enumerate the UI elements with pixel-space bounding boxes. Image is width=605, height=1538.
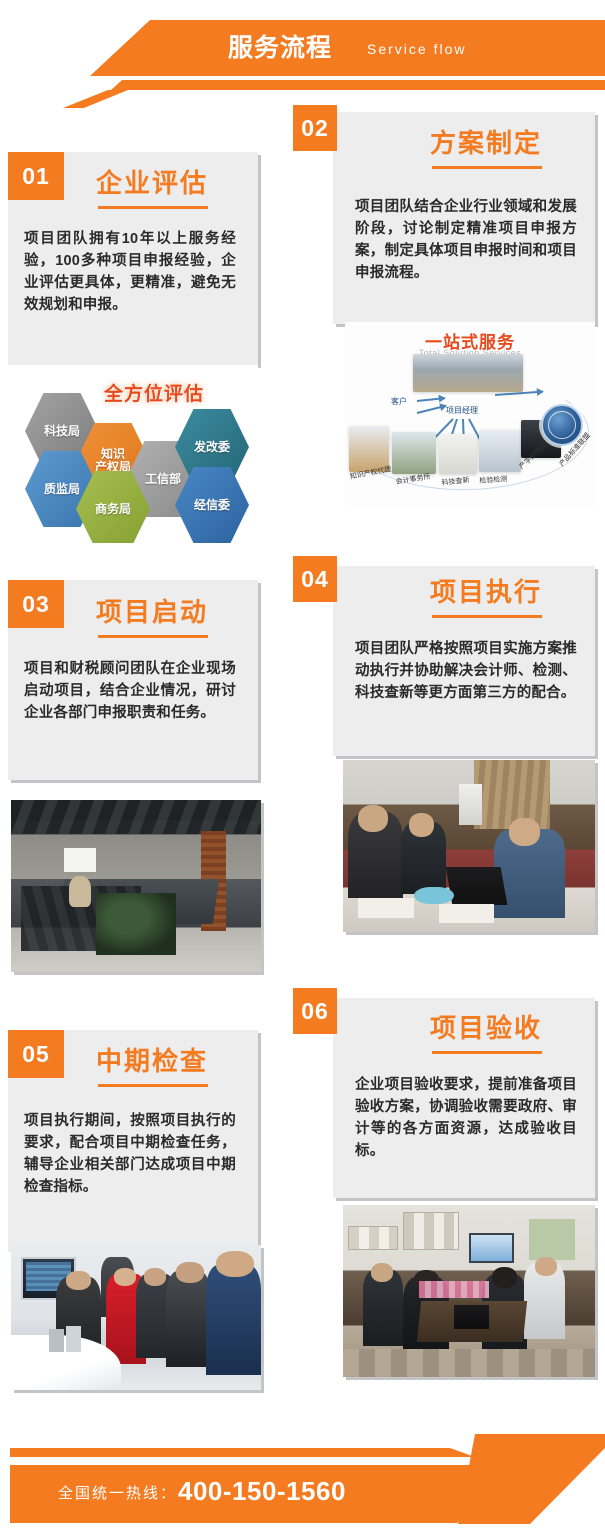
hotline-number: 400-150-1560 (178, 1471, 346, 1511)
one-stop-label-customer: 客户 (391, 396, 407, 407)
step-badge-02: 02 (293, 105, 337, 151)
one-stop-node-4 (479, 430, 521, 472)
header-orange-stripe (0, 80, 605, 90)
step-badge-03: 03 (8, 580, 64, 628)
page-footer: 全国统一热线： 400-150-1560 (0, 1408, 605, 1538)
one-stop-label-manager: 项目经理 (446, 405, 478, 416)
page-title: 服务流程 (228, 28, 332, 68)
photo-boardroom-review (343, 1205, 595, 1377)
step-title-01: 企业评估 (96, 163, 208, 200)
media-photo-showroom-visit (11, 1245, 261, 1390)
step-body-01: 项目团队拥有10年以上服务经验，100多种项目申报经验，企业评估更具体，更精准，… (24, 228, 236, 316)
step-body-03: 项目和财税顾问团队在企业现场启动项目，结合企业情况，研讨企业各部门申报职责和任务… (24, 658, 236, 724)
step-badge-01: 01 (8, 152, 64, 200)
photo-laptop-meeting (343, 760, 595, 932)
step-title-04: 项目执行 (430, 572, 542, 609)
service-flow-poster: 服务流程 Service flow 01 企业评估 项目团队拥有10年以上服务经… (0, 0, 605, 1538)
photo-conference-room (11, 800, 261, 972)
one-stop-caption-4: 检验检测 (479, 474, 508, 486)
step-body-02: 项目团队结合企业行业领域和发展阶段，讨论制定精准项目申报方案，制定具体项目申报时… (355, 196, 577, 284)
step-body-06: 企业项目验收要求，提前准备项目验收方案，协调验收需要政府、审计等的各方面资源，达… (355, 1074, 577, 1162)
step-body-04: 项目团队严格按照项目实施方案推动执行并协助解决会计师、检测、科技查新等更方面第三… (355, 638, 577, 704)
step-badge-05: 05 (8, 1030, 64, 1078)
step-title-05: 中期检查 (96, 1041, 208, 1078)
media-photo-boardroom-review (343, 1205, 595, 1377)
step-title-03: 项目启动 (96, 592, 208, 629)
step-badge-04: 04 (293, 556, 337, 602)
step-title-02: 方案制定 (430, 123, 542, 160)
media-photo-conference-room (11, 800, 261, 972)
page-subtitle: Service flow (367, 38, 466, 60)
photo-showroom-visit (11, 1245, 261, 1390)
page-header: 服务流程 Service flow (0, 0, 605, 108)
step-title-06: 项目验收 (430, 1008, 542, 1045)
media-photo-laptop-meeting (343, 760, 595, 932)
header-diagonal-accent (0, 90, 260, 108)
one-stop-node-2 (392, 432, 436, 474)
hotline-label: 全国统一热线： (58, 1478, 177, 1510)
one-stop-node-3 (439, 434, 477, 474)
media-hex-diagram: 全方位评估 科技局 知识 产权局 质监局 工信部 商务局 发改委 经信委 (8, 365, 258, 543)
hex-diagram-title: 全方位评估 (104, 379, 204, 406)
step-body-05: 项目执行期间，按照项目执行的要求，配合项目中期检查任务，辅导企业相关部门达成项目… (24, 1110, 236, 1198)
media-one-stop-service: 一站式服务 Total Solution Services 客户 项目经理 知识… (345, 322, 595, 507)
step-badge-06: 06 (293, 988, 337, 1034)
